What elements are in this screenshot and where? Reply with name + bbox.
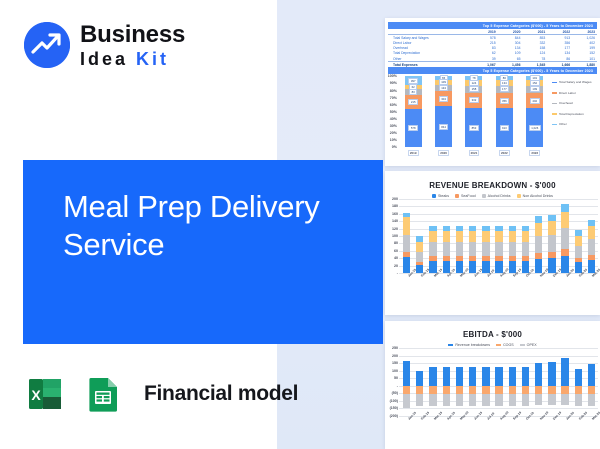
legend-item: Steaks [432, 194, 449, 198]
bar-segment [416, 262, 423, 265]
bar-column [492, 199, 505, 273]
bar-segment [575, 258, 582, 262]
bar-column [413, 199, 426, 273]
y-tick: 10% [390, 138, 397, 142]
x-tick: 2019 [405, 151, 422, 155]
ebitda-card: EBITDA - $'000 Revenue breakdownsCOGSOPE… [385, 321, 600, 449]
bar-segment [429, 256, 436, 261]
legend-item: Overhead [552, 101, 598, 105]
bar-segment [548, 215, 555, 222]
microsoft-excel-icon: X [24, 372, 68, 416]
expense-chart-bars: 3976283215578651091343048447812415833285… [398, 76, 550, 147]
bar-segment [509, 242, 516, 256]
bar-segment: 913 [496, 108, 513, 147]
bar-column: 65109134304844 [435, 76, 452, 147]
x-tick: 2022 [496, 151, 513, 155]
bar-segment [509, 231, 516, 242]
bar-segment [575, 236, 582, 246]
bar-segment [535, 253, 542, 259]
y-tick: 40% [390, 117, 397, 121]
bar-segment [535, 216, 542, 223]
bar-segment: 215 [405, 95, 422, 109]
bar-segment [548, 221, 555, 234]
y-axis: 25020015010050-(50)(100)(150)(200) [385, 348, 399, 416]
bar-segment [482, 231, 489, 242]
revenue-chart-title: REVENUE BREAKDOWN - $'000 [385, 181, 600, 190]
bar-segment: 158 [465, 86, 482, 93]
svg-text:X: X [31, 387, 41, 403]
chart-bars [400, 199, 598, 273]
y-tick: 90% [390, 81, 397, 85]
legend-item: OPEX [520, 343, 537, 347]
y-tick: (50) [392, 391, 398, 395]
bar-segment [416, 236, 423, 242]
bar-segment [469, 256, 476, 261]
y-tick: 60% [390, 103, 397, 107]
bar-segment [575, 246, 582, 258]
ebitda-chart-title: EBITDA - $'000 [385, 330, 600, 339]
bar-segment [548, 235, 555, 252]
y-tick: - [397, 384, 398, 388]
bar-column: 78124158332853 [465, 76, 482, 147]
bar-segment [469, 226, 476, 231]
bar-segment: 199 [526, 86, 543, 94]
bar-column [519, 199, 532, 273]
y-tick: 100 [392, 234, 398, 238]
bar-segment [561, 249, 568, 256]
y-tick: 150 [392, 361, 398, 365]
bar-column [400, 199, 413, 273]
bar-segment [588, 226, 595, 239]
expense-chart-legend: Total Salary and WagesDirect LaborOverhe… [552, 80, 598, 133]
ebitda-chart-legend: Revenue breakdownsCOGSOPEX [385, 343, 600, 347]
growth-arrow-circle-icon [24, 22, 70, 68]
y-tick: 120 [392, 227, 398, 231]
legend-item: Alcohol Drinks [482, 194, 511, 198]
y-tick: 60 [394, 249, 398, 253]
y-tick: 140 [392, 219, 398, 223]
bar-segment [456, 226, 463, 231]
bar-column [545, 199, 558, 273]
bar-segment: 402 [526, 93, 543, 108]
x-tick: 2023 [526, 151, 543, 155]
y-tick: 20% [390, 131, 397, 135]
expense-table: 20192020202120222023Total Salary and Wag… [388, 29, 597, 67]
bar-segment [495, 231, 502, 242]
bar-segment [535, 236, 542, 253]
brand-name-primary: Business [80, 23, 185, 47]
bar-segment [403, 217, 410, 235]
bar-segment [522, 226, 529, 231]
y-tick: 50 [394, 376, 398, 380]
expense-chart-y-axis: 100%90%80%70%60%50%40%30%20%10%0% [385, 76, 398, 147]
legend-item: Direct Labor [552, 91, 598, 95]
bar-column [440, 199, 453, 273]
bar-column [572, 199, 585, 273]
bar-column [466, 199, 479, 273]
y-tick: 250 [392, 346, 398, 350]
bar-segment [429, 231, 436, 242]
bar-segment: 356 [496, 93, 513, 108]
bar-segment [522, 242, 529, 256]
bar-column [532, 199, 545, 273]
bar-segment [403, 252, 410, 258]
revenue-chart-legend: SteaksSeaFoodAlcohol DrinksNon Alcohol D… [385, 194, 600, 198]
bar-segment [443, 231, 450, 242]
legend-item: Total Salary and Wages [552, 80, 598, 84]
y-tick: 80% [390, 89, 397, 93]
bar-segment [456, 231, 463, 242]
y-tick: 180 [392, 204, 398, 208]
bar-segment [443, 226, 450, 231]
bar-column [426, 199, 439, 273]
y-tick: 160 [392, 212, 398, 216]
bar-segment [456, 242, 463, 256]
bar-column [558, 199, 571, 273]
y-tick: 50% [390, 110, 397, 114]
bar-segment [575, 230, 582, 236]
x-axis-labels: Jan-19Feb-19Mar-19Apr-19May-19Jun-19Jul-… [400, 418, 598, 419]
poster-canvas: Business Idea Kit Meal Prep Delivery Ser… [0, 0, 600, 449]
title-banner: Meal Prep Delivery Service [23, 160, 383, 344]
y-tick: 40 [394, 256, 398, 260]
legend-item: COGS [496, 343, 514, 347]
legend-item: Revenue breakdowns [448, 343, 490, 347]
bar-segment [588, 220, 595, 226]
y-tick: (100) [390, 399, 398, 403]
y-tick: 100% [388, 74, 397, 78]
bar-segment [561, 204, 568, 212]
bar-column [479, 199, 492, 273]
legend-item: Non Alcohol Drinks [517, 194, 553, 198]
bar-segment [588, 255, 595, 260]
bar-segment [403, 235, 410, 252]
y-tick: 100 [392, 369, 398, 373]
bar-segment [482, 256, 489, 261]
bar-segment [443, 256, 450, 261]
bar-segment [429, 242, 436, 256]
bar-segment [482, 226, 489, 231]
y-tick: 200 [392, 354, 398, 358]
bar-segment [495, 256, 502, 261]
bar-column: 86134177356913 [496, 76, 513, 147]
table-row: Total Depreciation62109124134152 [388, 51, 597, 56]
bar-segment [495, 242, 502, 256]
legend-item: Other [552, 122, 598, 126]
bar-segment: 332 [465, 93, 482, 109]
bar-segment [509, 256, 516, 261]
bar-segment: 853 [465, 108, 482, 147]
bar-segment [561, 228, 568, 249]
page-title: Meal Prep Delivery Service [63, 188, 373, 264]
bar-column [506, 199, 519, 273]
bar-segment [403, 213, 410, 217]
bar-segment: 1,026 [526, 108, 543, 147]
expense-categories-card: Top 5 Expense Categories ($'000) - 5 Yea… [385, 18, 600, 166]
bar-segment [548, 252, 555, 258]
ebitda-chart-plot: 25020015010050-(50)(100)(150)(200)Jan-19… [385, 348, 600, 431]
expense-100pct-stacked-chart: 100%90%80%70%60%50%40%30%20%10%0% 397628… [385, 74, 600, 156]
bar-segment [522, 256, 529, 261]
bar-segment [535, 223, 542, 236]
y-tick: 80 [394, 241, 398, 245]
brand-logo: Business Idea Kit [24, 22, 185, 68]
bar-segment [416, 252, 423, 262]
x-tick: 2020 [435, 151, 452, 155]
bar-column: 1011521994021,026 [526, 76, 543, 147]
revenue-chart-plot: 20018016014012010080604020-Jan-19Feb-19M… [385, 199, 600, 291]
bar-segment [509, 226, 516, 231]
bar-segment: 304 [435, 91, 452, 106]
y-tick: 200 [392, 197, 398, 201]
expense-chart-band-title: Top 5 Expense Categories ($'000) - 5 Yea… [388, 67, 597, 74]
y-tick: 20 [394, 264, 398, 268]
y-tick: - [397, 271, 398, 275]
y-axis: 20018016014012010080604020- [385, 199, 399, 273]
bar-segment: 177 [496, 86, 513, 94]
brand-name-kit: Kit [136, 49, 169, 69]
bar-segment [495, 226, 502, 231]
bar-column [453, 199, 466, 273]
bar-segment [469, 231, 476, 242]
format-badges: X Financial model [24, 372, 298, 416]
bar-segment [469, 242, 476, 256]
brand-name-idea: Idea [80, 49, 128, 69]
bar-segment [416, 242, 423, 252]
bar-column [585, 199, 598, 273]
bar-segment [456, 256, 463, 261]
x-axis-labels: Jan-19Feb-19Mar-19Apr-19May-19Jun-19Jul-… [400, 275, 598, 276]
y-tick: 0% [392, 145, 397, 149]
y-tick: 70% [390, 96, 397, 100]
legend-item: SeaFood [455, 194, 476, 198]
bar-segment [443, 242, 450, 256]
bar-segment: 844 [435, 106, 452, 147]
table-row: Total Salary and Wages5788448539131,026 [388, 35, 597, 41]
bar-segment [403, 257, 410, 273]
expense-chart-x-labels: 20192020202120222023 [398, 151, 550, 155]
bar-column: 3976283215578 [405, 76, 422, 147]
ebitda-line-series [400, 348, 598, 416]
bar-segment [482, 242, 489, 256]
bar-segment [522, 231, 529, 242]
y-tick: (200) [390, 414, 398, 418]
bar-segment [429, 226, 436, 231]
format-label: Financial model [144, 382, 298, 406]
bar-segment: 578 [405, 109, 422, 147]
y-tick: 30% [390, 124, 397, 128]
bar-segment [561, 212, 568, 229]
x-tick: 2021 [465, 151, 482, 155]
revenue-breakdown-card: REVENUE BREAKDOWN - $'000 SteaksSeaFoodA… [385, 171, 600, 315]
legend-item: Total Depreciation [552, 112, 598, 116]
expense-table-band-title: Top 5 Expense Categories ($'000) - 5 Yea… [388, 22, 597, 29]
google-sheets-icon [81, 372, 125, 416]
y-tick: (150) [390, 406, 398, 410]
bar-segment [588, 239, 595, 255]
